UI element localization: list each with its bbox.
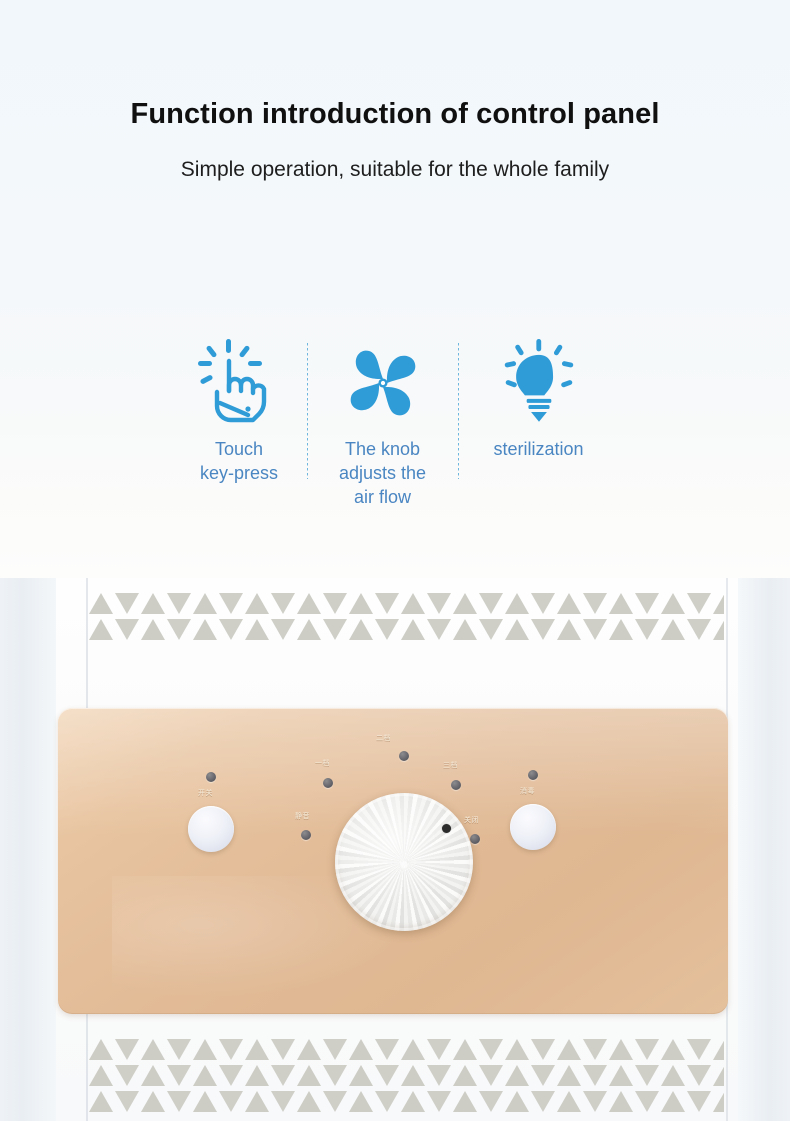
sterilize-button-label: 消毒: [520, 786, 535, 796]
light-bulb-icon: [499, 335, 579, 431]
vent-triangle-up: [713, 1091, 724, 1112]
vent-triangle-up: [141, 593, 165, 614]
vent-triangle-down: [531, 1065, 555, 1086]
vent-triangle-down: [375, 619, 399, 640]
vent-triangle-up: [453, 1091, 477, 1112]
appliance-right-edge: [738, 578, 790, 1121]
vent-triangle-down: [323, 1039, 347, 1060]
appliance-left-edge: [0, 578, 56, 1121]
vent-triangle-down: [635, 593, 659, 614]
vent-triangle-down: [271, 593, 295, 614]
vent-triangle-down: [687, 1091, 711, 1112]
vent-triangle-down: [271, 1065, 295, 1086]
vent-triangle-up: [349, 619, 373, 640]
vent-triangle-down: [167, 1039, 191, 1060]
vent-triangle-down: [427, 1091, 451, 1112]
vent-triangle-down: [531, 1091, 555, 1112]
vent-triangle-down: [687, 593, 711, 614]
gear-led-three: [451, 780, 461, 790]
vent-triangle-up: [505, 1065, 529, 1086]
vent-triangle-up: [141, 1091, 165, 1112]
grille-row: [88, 616, 724, 642]
vent-triangle-up: [557, 1065, 581, 1086]
vent-triangle-up: [245, 1039, 269, 1060]
vent-triangle-down: [219, 1091, 243, 1112]
vent-triangle-up: [349, 1065, 373, 1086]
vent-triangle-up: [297, 1091, 321, 1112]
vent-triangle-up: [453, 1065, 477, 1086]
vent-triangle-down: [219, 1039, 243, 1060]
knob-position-marker: [442, 824, 451, 833]
page-subtitle: Simple operation, suitable for the whole…: [0, 158, 790, 182]
vent-triangle-up: [245, 593, 269, 614]
vent-triangle-up: [89, 1039, 113, 1060]
vent-triangle-up: [453, 1039, 477, 1060]
vent-triangle-up: [713, 1065, 724, 1086]
vent-triangle-up: [349, 1039, 373, 1060]
vent-triangle-up: [453, 593, 477, 614]
vent-triangle-down: [635, 1065, 659, 1086]
vent-triangle-down: [115, 1065, 139, 1086]
vent-triangle-up: [557, 1091, 581, 1112]
vent-triangle-up: [661, 593, 685, 614]
vent-triangle-down: [531, 593, 555, 614]
vent-triangle-down: [479, 1039, 503, 1060]
vent-triangle-up: [193, 1065, 217, 1086]
vent-triangle-down: [375, 1065, 399, 1086]
vent-triangle-up: [401, 593, 425, 614]
vent-triangle-down: [427, 593, 451, 614]
vent-triangle-up: [609, 1039, 633, 1060]
vent-triangle-up: [609, 619, 633, 640]
feature-item-sterilization: sterilization: [459, 335, 619, 461]
gear-label-quiet: 静音: [295, 811, 310, 821]
vent-triangle-up: [89, 1065, 113, 1086]
vent-triangle-up: [401, 619, 425, 640]
top-vent-grille: [88, 590, 724, 646]
vent-triangle-up: [661, 619, 685, 640]
intro-section: Function introduction of control panel S…: [0, 0, 790, 580]
sterilize-led-indicator: [528, 770, 538, 780]
vent-triangle-down: [115, 619, 139, 640]
vent-triangle-up: [401, 1039, 425, 1060]
feature-item-knob: The knob adjusts the air flow: [308, 335, 458, 509]
vent-triangle-up: [609, 1091, 633, 1112]
power-led-indicator: [206, 772, 216, 782]
gear-led-quiet: [301, 830, 311, 840]
vent-triangle-down: [479, 593, 503, 614]
touch-hand-icon: [196, 335, 282, 431]
vent-triangle-up: [401, 1091, 425, 1112]
control-panel: 开关 二档 一档 三档 静音 关闭 消毒: [58, 708, 728, 1014]
vent-triangle-up: [505, 619, 529, 640]
vent-triangle-up: [713, 1039, 724, 1060]
vent-triangle-up: [89, 593, 113, 614]
vent-triangle-up: [297, 1039, 321, 1060]
vent-triangle-up: [713, 593, 724, 614]
grille-row: [88, 1036, 724, 1062]
vent-triangle-down: [479, 1065, 503, 1086]
vent-triangle-down: [583, 1091, 607, 1112]
vent-triangle-up: [661, 1039, 685, 1060]
grille-row: [88, 1088, 724, 1114]
vent-triangle-down: [635, 1039, 659, 1060]
vent-triangle-up: [141, 619, 165, 640]
feature-item-touch: Touch key-press: [172, 335, 307, 485]
vent-triangle-down: [375, 1091, 399, 1112]
power-touch-button[interactable]: [188, 806, 234, 852]
vent-triangle-down: [271, 619, 295, 640]
gear-label-two: 二档: [376, 733, 391, 743]
sterilize-touch-button[interactable]: [510, 804, 556, 850]
product-photo: 开关 二档 一档 三档 静音 关闭 消毒: [0, 578, 790, 1121]
grille-row: [88, 1062, 724, 1088]
vent-triangle-down: [115, 593, 139, 614]
vent-triangle-up: [557, 1039, 581, 1060]
vent-triangle-down: [583, 1039, 607, 1060]
vent-triangle-down: [479, 619, 503, 640]
vent-triangle-down: [687, 1065, 711, 1086]
vent-triangle-up: [245, 1065, 269, 1086]
feature-label-sterilization: sterilization: [493, 437, 583, 461]
vent-triangle-down: [427, 1065, 451, 1086]
vent-triangle-up: [193, 619, 217, 640]
vent-triangle-down: [271, 1091, 295, 1112]
feature-label-knob: The knob adjusts the air flow: [339, 437, 426, 509]
vent-triangle-down: [687, 619, 711, 640]
vent-triangle-up: [661, 1091, 685, 1112]
page-title: Function introduction of control panel: [0, 98, 790, 131]
airflow-knob[interactable]: [335, 793, 473, 931]
vent-triangle-down: [687, 1039, 711, 1060]
feature-list: Touch key-press The knob adjusts the air…: [155, 335, 635, 535]
vent-triangle-up: [661, 1065, 685, 1086]
vent-triangle-down: [115, 1039, 139, 1060]
feature-label-touch: Touch key-press: [200, 437, 278, 485]
vent-triangle-down: [323, 1065, 347, 1086]
vent-triangle-down: [219, 619, 243, 640]
gear-label-one: 一档: [315, 758, 330, 768]
vent-triangle-up: [609, 593, 633, 614]
vent-triangle-down: [219, 1065, 243, 1086]
vent-triangle-down: [427, 1039, 451, 1060]
gear-led-off: [470, 834, 480, 844]
vent-triangle-down: [323, 593, 347, 614]
vent-triangle-up: [89, 1091, 113, 1112]
vent-triangle-up: [505, 1039, 529, 1060]
gear-label-three: 三档: [443, 760, 458, 770]
vent-triangle-up: [245, 619, 269, 640]
vent-triangle-up: [609, 1065, 633, 1086]
vent-triangle-down: [219, 593, 243, 614]
vent-triangle-down: [375, 593, 399, 614]
vent-triangle-up: [89, 619, 113, 640]
vent-triangle-up: [193, 593, 217, 614]
vent-triangle-up: [505, 593, 529, 614]
vent-triangle-down: [323, 1091, 347, 1112]
grille-row: [88, 590, 724, 616]
vent-triangle-down: [531, 619, 555, 640]
power-button-label: 开关: [198, 788, 213, 798]
vent-triangle-up: [557, 593, 581, 614]
vent-triangle-down: [167, 593, 191, 614]
vent-triangle-down: [583, 619, 607, 640]
vent-triangle-up: [297, 619, 321, 640]
vent-triangle-down: [375, 1039, 399, 1060]
vent-triangle-down: [323, 619, 347, 640]
vent-triangle-down: [427, 619, 451, 640]
vent-triangle-down: [271, 1039, 295, 1060]
vent-triangle-up: [349, 1091, 373, 1112]
vent-triangle-up: [349, 593, 373, 614]
gear-led-one: [323, 778, 333, 788]
bottom-vent-grille: [88, 1036, 724, 1121]
vent-triangle-up: [453, 619, 477, 640]
vent-triangle-up: [557, 619, 581, 640]
vent-triangle-down: [635, 1091, 659, 1112]
vent-triangle-down: [583, 593, 607, 614]
vent-triangle-down: [583, 1065, 607, 1086]
gear-label-off: 关闭: [464, 815, 479, 825]
fan-blade-icon: [342, 335, 424, 431]
vent-triangle-up: [401, 1065, 425, 1086]
vent-triangle-down: [479, 1091, 503, 1112]
vent-triangle-up: [193, 1039, 217, 1060]
vent-triangle-down: [167, 1065, 191, 1086]
vent-triangle-down: [167, 619, 191, 640]
vent-triangle-up: [713, 619, 724, 640]
vent-triangle-down: [531, 1039, 555, 1060]
gear-led-two: [399, 751, 409, 761]
vent-triangle-up: [193, 1091, 217, 1112]
vent-triangle-up: [297, 1065, 321, 1086]
vent-triangle-down: [115, 1091, 139, 1112]
vent-triangle-down: [635, 619, 659, 640]
vent-triangle-up: [505, 1091, 529, 1112]
vent-triangle-up: [141, 1065, 165, 1086]
vent-triangle-down: [167, 1091, 191, 1112]
vent-triangle-up: [141, 1039, 165, 1060]
vent-triangle-up: [297, 593, 321, 614]
vent-triangle-up: [245, 1091, 269, 1112]
